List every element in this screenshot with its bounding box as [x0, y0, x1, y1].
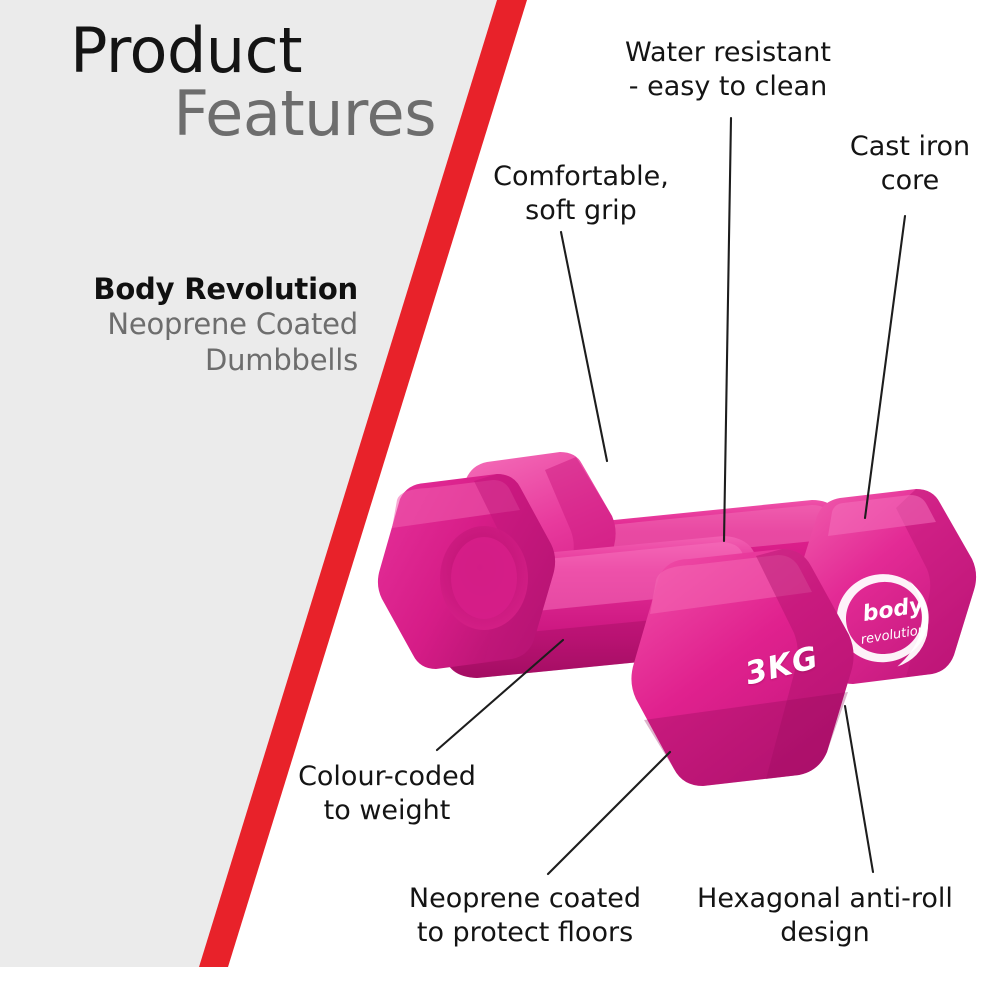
leader-line-hexagonal: [845, 706, 873, 872]
leader-line-water-resistant: [724, 118, 731, 541]
subtitle-brand: Body Revolution: [0, 272, 358, 307]
product-subtitle: Body Revolution Neoprene Coated Dumbbell…: [0, 272, 358, 378]
leader-line-comfortable-grip: [561, 232, 607, 461]
product-features-infographic: Product Features Body Revolution Neopren…: [0, 0, 1000, 1000]
subtitle-material: Neoprene Coated: [0, 307, 358, 342]
callout-cast-iron-core: Cast iron core: [820, 130, 1000, 198]
callout-water-resistant: Water resistant - easy to clean: [598, 36, 858, 104]
callout-neoprene-coated: Neoprene coated to protect floors: [380, 882, 670, 950]
callout-hexagonal-design: Hexagonal anti-roll design: [680, 882, 970, 950]
subtitle-product-type: Dumbbells: [0, 343, 358, 378]
leader-line-cast-iron: [865, 216, 905, 518]
callout-comfortable-grip: Comfortable, soft grip: [466, 160, 696, 228]
leader-line-neoprene-coated: [548, 752, 670, 874]
leader-line-colour-coded: [437, 640, 563, 750]
callout-colour-coded: Colour-coded to weight: [272, 760, 502, 828]
